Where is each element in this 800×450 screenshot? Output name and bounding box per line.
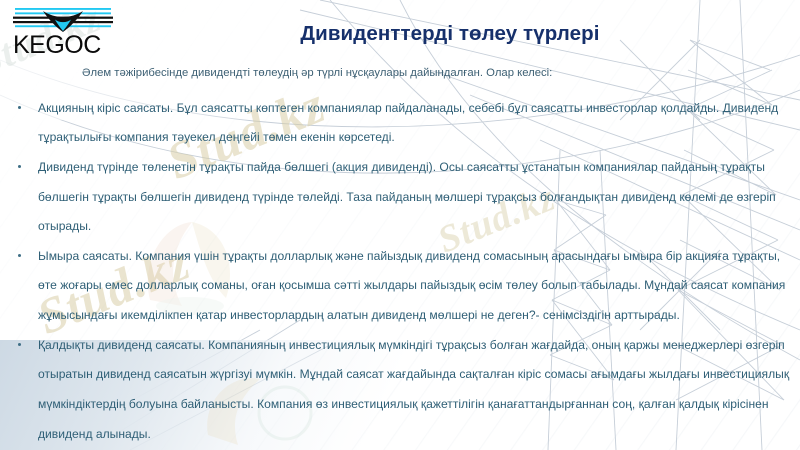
list-item-text: Акцияның кіріс саясаты. Бұл саясатты көп…	[38, 101, 778, 145]
list-item: Акцияның кіріс саясаты. Бұл саясатты көп…	[12, 94, 790, 153]
list-item: Қалдықты дивиденд саясаты. Компанияның и…	[12, 331, 790, 450]
list-item-text: Қалдықты дивиденд саясаты. Компанияның и…	[38, 338, 789, 441]
list-item: Дивиденд түрінде төленетін тұрақты пайда…	[12, 153, 790, 242]
slide-title: Дивиденттерді төлеу түрлері	[130, 22, 770, 46]
watermark-text: Stud.kz	[240, 0, 396, 11]
list-item: Ымыра саясаты. Компания үшін тұрақты дол…	[12, 242, 790, 331]
presentation-slide: Stud.kz Stud.kz Stud.kz Stud.kz Stud.kz …	[0, 0, 800, 450]
slide-content: Әлем тәжірибесінде дивидендті төлеудің ә…	[0, 60, 800, 449]
bullet-dot-icon	[18, 254, 21, 257]
kegoc-logo-mark-icon	[13, 6, 113, 32]
list-item-text: Дивиденд түрінде төленетін тұрақты пайда…	[38, 160, 776, 233]
bullet-list: Акцияның кіріс саясаты. Бұл саясатты көп…	[12, 94, 790, 450]
bullet-dot-icon	[18, 106, 21, 109]
kegoc-logo-text: KEGOC	[13, 33, 118, 58]
list-item-text: Ымыра саясаты. Компания үшін тұрақты дол…	[38, 249, 785, 322]
bullet-dot-icon	[18, 343, 21, 346]
intro-paragraph: Әлем тәжірибесінде дивидендті төлеудің ә…	[12, 60, 790, 88]
bullet-dot-icon	[18, 165, 21, 168]
kegoc-logo: KEGOC	[13, 6, 118, 60]
